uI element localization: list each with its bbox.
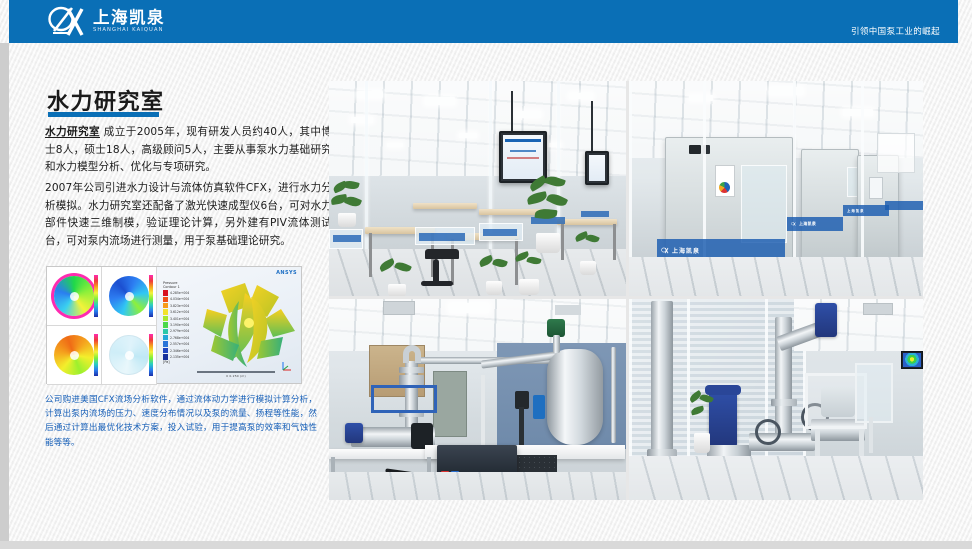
potted-plant (377, 261, 417, 296)
leaf (526, 255, 541, 266)
pump-motor (345, 423, 363, 443)
pump-motor-upper[interactable] (815, 303, 837, 337)
glass-brand-band-tertiary: 上海凯泉 (843, 205, 889, 216)
piv-laser-unit (437, 445, 517, 475)
display-mount-stalk (591, 101, 593, 153)
legend-swatch (163, 335, 168, 340)
tank-inlet-pipe (553, 335, 560, 353)
impeller-contour-bottom-right (102, 326, 157, 385)
legend-value: 2.979e+004 (170, 329, 189, 333)
kaiquan-kx-monogram-icon (791, 221, 796, 227)
office-chair (425, 249, 459, 259)
hand-valve-wheel[interactable] (755, 419, 781, 445)
photo-rapid-prototyping-machines: 上海凯泉 上海凯泉 上海凯泉 (629, 81, 923, 296)
plant-pot (694, 433, 710, 453)
frame-leg (869, 417, 873, 453)
cfd-3d-rotor-view: ANSYS Pressure Contour 1 4.285e+0044.034… (157, 267, 301, 383)
glass-brand-band-text: 上海凯泉 (847, 208, 865, 213)
pipe-flange (399, 367, 424, 373)
legend-swatch (163, 316, 168, 321)
partition-brand-strip (581, 211, 609, 217)
legend-swatch (163, 354, 168, 359)
glass-brand-band-far (885, 201, 923, 210)
legend-swatch (163, 329, 168, 334)
machine-vent (689, 145, 701, 154)
slide-text-line (510, 150, 536, 152)
cfd-figure-caption: 公司购进美国CFX流场分析软件，通过流体动力学进行模拟计算分析，计算出泵内流场的… (45, 393, 317, 450)
potted-plant (525, 177, 571, 253)
legend-value: 4.285e+004 (170, 291, 189, 295)
floor (329, 472, 626, 500)
wall-monitor (901, 351, 923, 369)
potted-plant (573, 233, 603, 275)
ceiling-light (459, 133, 477, 138)
machine-label-pie-icon (719, 182, 730, 193)
ceiling-light (843, 109, 873, 116)
kaiquan-kx-monogram-icon (661, 246, 669, 255)
impeller-contour-top-left (47, 267, 102, 326)
desk-leg (369, 233, 372, 277)
photo-grid: 上海凯泉 上海凯泉 上海凯泉 (329, 81, 923, 500)
leaf (492, 257, 508, 269)
ceiling-light (515, 111, 541, 118)
xyz-axis-triad-icon (280, 359, 294, 373)
scale-bar-line (197, 371, 275, 373)
legend-swatch (163, 322, 168, 327)
legend-value: 2.768e+004 (170, 336, 189, 340)
display-mount-stalk (511, 91, 513, 133)
display-screen (589, 155, 605, 181)
slide-text-line (507, 157, 539, 159)
pipe-elbow (403, 345, 421, 363)
pressure-tank (547, 349, 603, 445)
brand-logo-text: 上海凯泉 SHANGHAI KAIQUAN (93, 9, 165, 34)
legend-swatch (163, 297, 168, 302)
tank-side-pipe (611, 347, 616, 443)
monitor-cfd-image (903, 353, 921, 367)
legend-value: 2.346e+004 (170, 349, 189, 353)
leaf (535, 208, 558, 220)
ceiling-light (351, 117, 373, 123)
impeller-contour-plot (54, 276, 94, 316)
impeller-contour-top-right (102, 267, 157, 326)
impeller-contour-plot (54, 335, 94, 375)
plant-pot (338, 213, 356, 227)
potted-plant (511, 253, 547, 295)
leaf (478, 255, 494, 268)
wall-info-poster (877, 133, 915, 173)
doorway (433, 371, 467, 437)
title-underline-bar (48, 112, 159, 117)
office-chair-base (421, 281, 453, 286)
legend-value: 3.612e+004 (170, 310, 189, 314)
display-screen (503, 135, 543, 179)
leaf (526, 191, 548, 205)
machine-info-label (715, 165, 735, 197)
ceiling-light (425, 97, 455, 105)
scale-bar: 0 0.250 (m) (191, 371, 281, 378)
ceiling-light (769, 87, 803, 95)
leaf (378, 258, 396, 272)
photo-pump-test-hall (629, 299, 923, 500)
glass-brand-band-secondary: 上海凯泉 (787, 217, 843, 231)
plant-pot (388, 284, 406, 296)
plant-pot (580, 261, 596, 275)
impeller-contour-plot (109, 335, 149, 375)
legend-value: 4.034e+004 (170, 297, 189, 301)
potted-plant (477, 257, 511, 295)
kaiquan-kx-monogram-icon (47, 6, 87, 37)
potted-plant (331, 181, 363, 227)
ceiling-light (357, 91, 383, 98)
leaf (394, 260, 412, 274)
photo-piv-fluid-test-bench (329, 299, 626, 500)
machine-touch-panel[interactable] (869, 177, 883, 199)
floor (629, 257, 923, 296)
partition-brand-strip (333, 235, 361, 242)
contour-colorbar (149, 275, 153, 317)
brand-name-cn: 上海凯泉 (93, 9, 165, 26)
paragraph-intro: 水力研究室 成立于2005年，现有研发人员约40人，其中博士8人，硕士18人，高… (45, 124, 332, 177)
legend-value: 3.190e+004 (170, 323, 189, 327)
glass-brand-band-text: 上海凯泉 (672, 246, 700, 255)
legend-swatch (163, 309, 168, 314)
leaf (342, 179, 359, 191)
desk-leg (451, 239, 454, 285)
ceiling-light (689, 95, 713, 101)
pressure-legend: Pressure Contour 1 4.285e+0044.034e+0043… (163, 281, 193, 365)
rig-post (481, 375, 485, 455)
pipe-flange (771, 399, 797, 406)
impeller-contour-bottom-left (47, 326, 102, 385)
legend-value: 2.557e+004 (170, 342, 189, 346)
ceiling-ac-vent (555, 305, 581, 315)
leaf (344, 194, 362, 208)
brand-name-en: SHANGHAI KAIQUAN (93, 27, 165, 34)
legend-value: 3.823e+004 (170, 304, 189, 308)
pipe-coupling (399, 375, 424, 385)
legend-swatch (163, 290, 168, 295)
legend-value: 2.135e+004 (170, 355, 189, 359)
header-slogan: 引领中国泵工业的崛起 (851, 25, 940, 37)
brand-logo: 上海凯泉 SHANGHAI KAIQUAN (47, 5, 165, 38)
cfd-impeller-analysis-figure: ANSYS Pressure Contour 1 4.285e+0044.034… (46, 266, 302, 384)
legend-swatch (163, 341, 168, 346)
large-vertical-pipe (651, 301, 673, 461)
paragraph-equipment: 2007年公司引进水力设计与流体仿真软件CFX，进行水力分析模拟。水力研究室还配… (45, 180, 332, 250)
wall-display-small (585, 151, 609, 185)
acrylic-test-chamber (855, 363, 893, 423)
legend-swatch (163, 348, 168, 353)
desk-leg (613, 224, 616, 260)
impeller-contour-plot (109, 276, 149, 316)
workstation-desk (413, 203, 477, 209)
slide-header-band (505, 139, 542, 142)
test-vessel (821, 387, 855, 417)
partition-brand-strip (419, 233, 465, 241)
contour-colorbar (94, 334, 98, 376)
legend-swatch (163, 303, 168, 308)
contour-colorbar (149, 334, 153, 376)
ceiling-light (449, 303, 489, 313)
partition-brand-strip (483, 229, 517, 236)
paragraph-lead-term: 水力研究室 (45, 126, 100, 138)
wall-display-large (499, 131, 547, 183)
legend-row-list: 4.285e+0044.034e+0043.823e+0043.612e+004… (163, 290, 193, 360)
ceiling-light (569, 93, 593, 99)
ceiling-light (387, 143, 403, 147)
potted-plant (689, 393, 715, 453)
plant-pot (536, 233, 560, 253)
legend-value: 3.401e+004 (170, 317, 189, 321)
equipment-table (329, 449, 437, 459)
leaf (690, 406, 704, 416)
ceiling-ac-vent (863, 303, 893, 315)
photo-research-office-interior (329, 81, 626, 296)
ceiling-ac-vent (383, 301, 415, 315)
plant-pot (486, 281, 502, 295)
instrument-transmitter (533, 395, 545, 419)
scale-bar-label: 0 0.250 (m) (226, 374, 246, 378)
slide-left-rail (0, 43, 9, 541)
floor (629, 456, 923, 500)
leaf (585, 233, 600, 244)
cfd-contour-grid (47, 267, 157, 383)
legend-axis-unit: [Pa] (163, 360, 193, 364)
contour-colorbar (94, 275, 98, 317)
leaf (546, 191, 568, 209)
glass-brand-band-text: 上海凯泉 (799, 221, 816, 227)
slide: 上海凯泉 SHANGHAI KAIQUAN 引领中国泵工业的崛起 水力研究室 水… (0, 0, 972, 541)
leaf (544, 174, 566, 189)
blue-support-frame (371, 385, 437, 413)
slide-header: 上海凯泉 SHANGHAI KAIQUAN 引领中国泵工业的崛起 (9, 0, 958, 43)
machine-window (741, 165, 787, 243)
leaf (699, 393, 714, 405)
plant-pot (519, 279, 539, 295)
